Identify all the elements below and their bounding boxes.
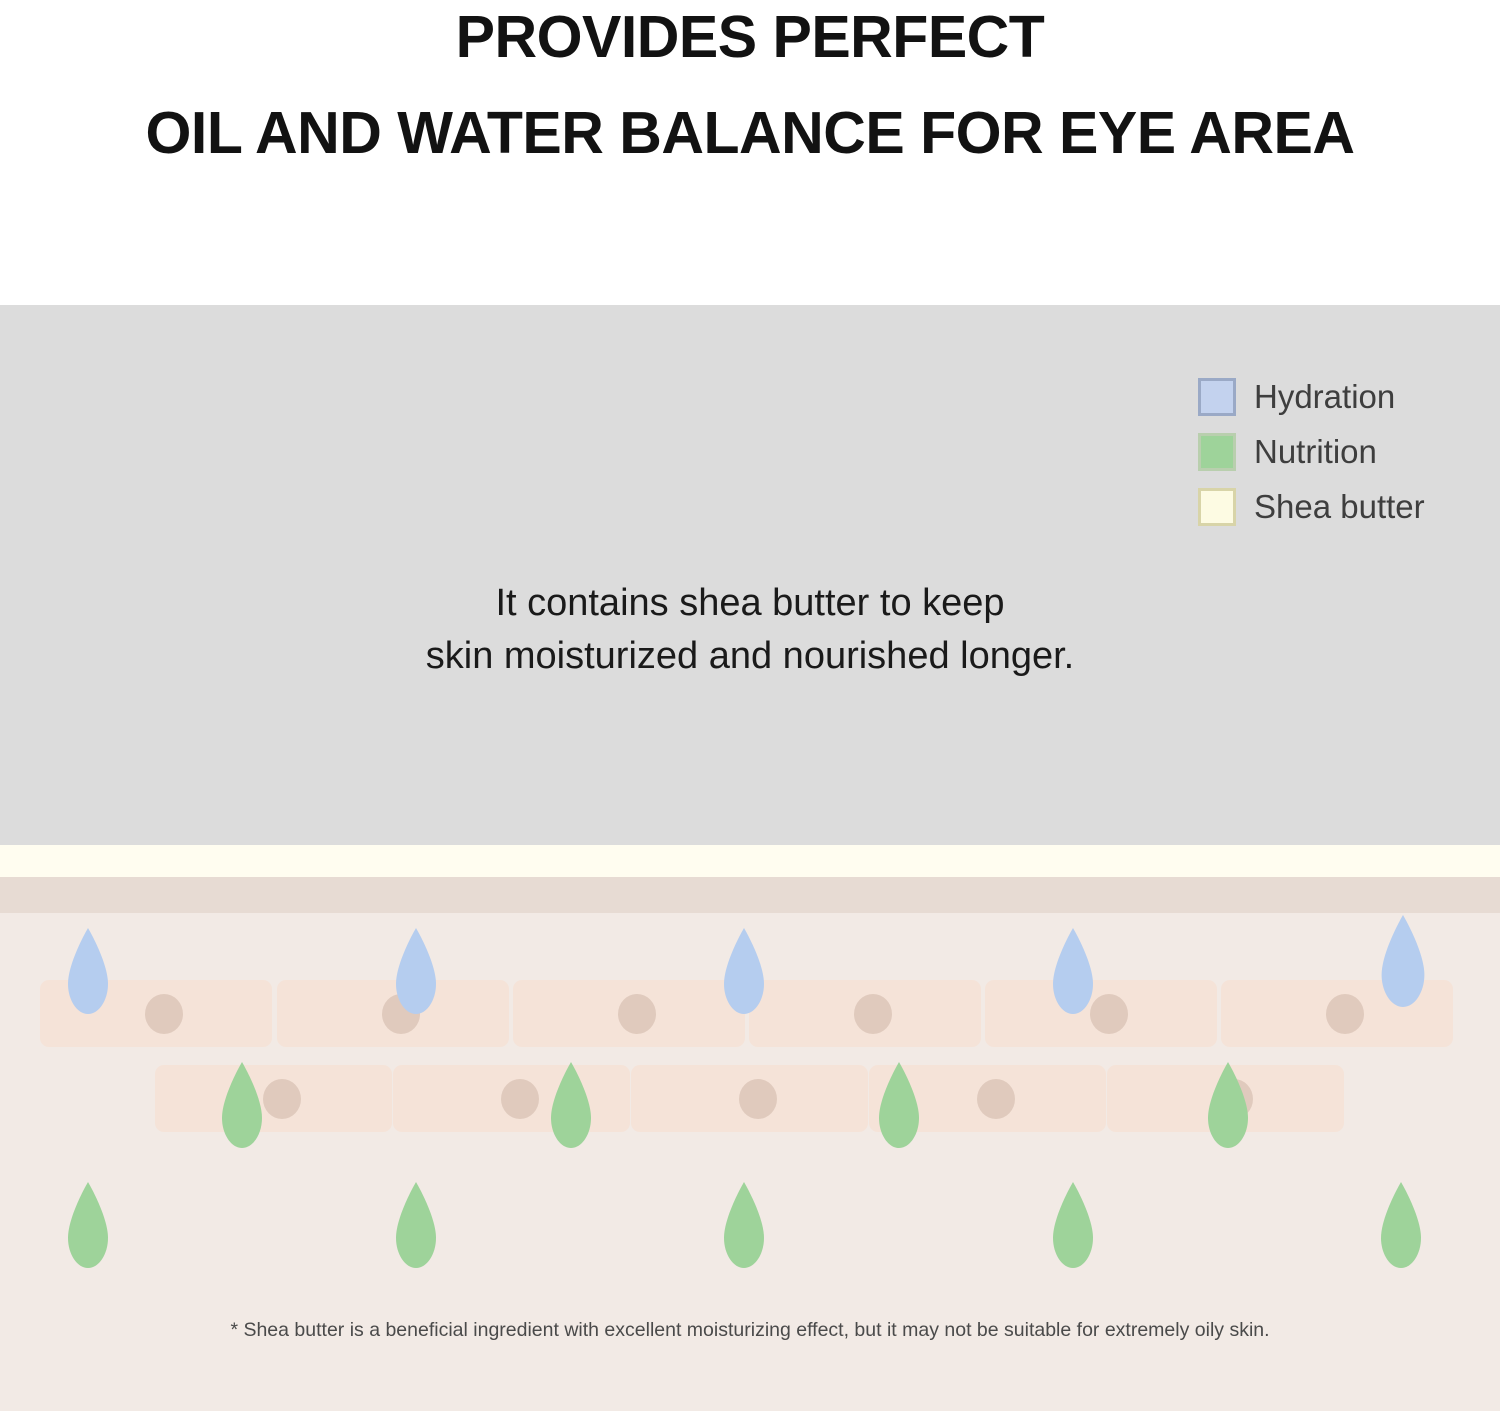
title-line-2: OIL AND WATER BALANCE FOR EYE AREA [0,98,1500,168]
nutrition-droplet [873,1062,925,1148]
hydration-droplet [390,928,442,1014]
nutrition-droplet [718,1182,770,1268]
nutrition-droplet [390,1182,442,1268]
skin-cell [985,980,1217,1047]
legend-swatch-icon [1198,378,1236,416]
legend-item-shea-butter: Shea butter [1198,479,1498,534]
cell-nucleus [1326,994,1364,1034]
nutrition-droplet [1047,1182,1099,1268]
hydration-droplet [1047,928,1099,1014]
shea-butter-layer [0,845,1500,877]
legend: HydrationNutritionShea butter [1198,369,1498,534]
nutrition-droplet [1202,1062,1254,1148]
cell-nucleus [145,994,183,1034]
legend-item-label: Nutrition [1254,435,1377,468]
cell-nucleus [501,1079,539,1119]
nutrition-droplet [545,1062,597,1148]
footnote: * Shea butter is a beneficial ingredient… [0,1319,1500,1342]
legend-swatch-icon [1198,488,1236,526]
cell-nucleus [263,1079,301,1119]
info-panel: HydrationNutritionShea butter It contain… [0,305,1500,845]
caption: It contains shea butter to keep skin moi… [0,577,1500,683]
caption-line-1: It contains shea butter to keep [0,577,1500,630]
hydration-droplet [718,928,770,1014]
page-title: PROVIDES PERFECT OIL AND WATER BALANCE F… [0,0,1500,305]
legend-swatch-icon [1198,433,1236,471]
legend-item-label: Hydration [1254,380,1395,413]
cell-nucleus [854,994,892,1034]
legend-item-hydration: Hydration [1198,369,1498,424]
skin-cell [155,1065,392,1132]
skin-surface-band [0,877,1500,913]
promo-graphic: PROVIDES PERFECT OIL AND WATER BALANCE F… [0,0,1500,1411]
caption-line-2: skin moisturized and nourished longer. [0,630,1500,683]
legend-item-label: Shea butter [1254,490,1425,523]
skin-cell [513,980,745,1047]
skin-cell [631,1065,868,1132]
nutrition-droplet [62,1182,114,1268]
cell-nucleus [739,1079,777,1119]
hydration-droplet [1375,915,1431,1007]
legend-item-nutrition: Nutrition [1198,424,1498,479]
nutrition-droplet [1375,1182,1427,1268]
title-line-1: PROVIDES PERFECT [0,2,1500,72]
cell-nucleus [977,1079,1015,1119]
cell-nucleus [618,994,656,1034]
skin-cell [749,980,981,1047]
nutrition-droplet [216,1062,268,1148]
hydration-droplet [62,928,114,1014]
